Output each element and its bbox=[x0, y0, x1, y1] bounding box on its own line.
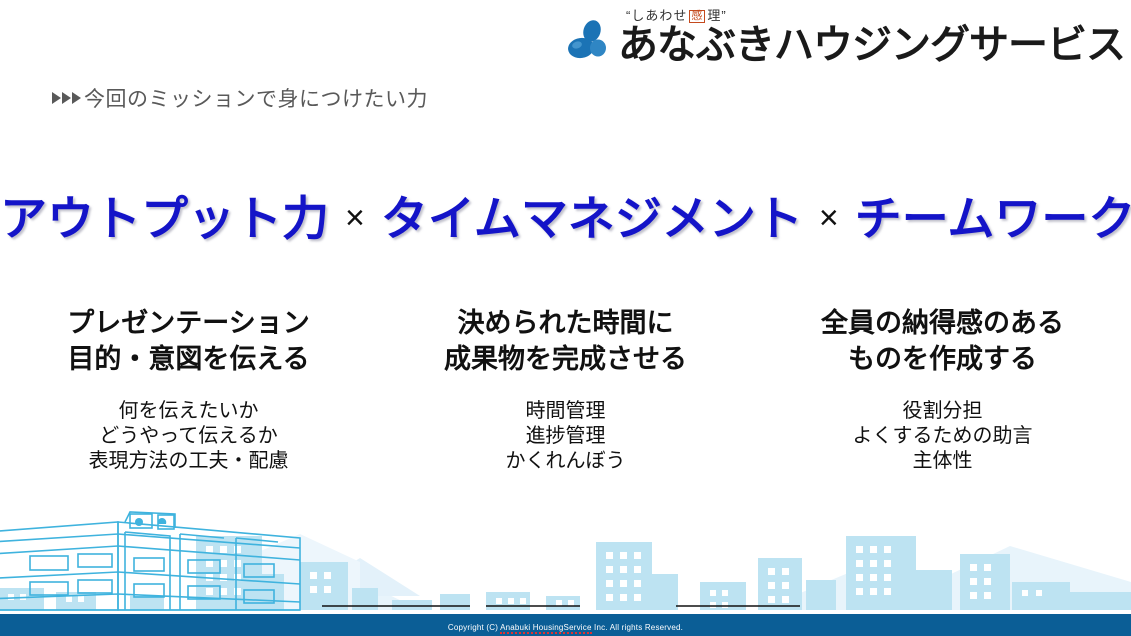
triangle-right-icon bbox=[62, 92, 71, 104]
skills-columns: プレゼンテーション 目的・意図を伝える 何を伝えたいか どうやって伝えるか 表現… bbox=[0, 305, 1131, 474]
triangle-right-icon-group bbox=[52, 92, 82, 104]
logo-tagline-boxed: 感 bbox=[689, 10, 705, 23]
copyright-company: Anabuki HousingService bbox=[500, 623, 592, 634]
skill-body-line: 表現方法の工夫・配慮 bbox=[12, 449, 365, 474]
droplets-icon bbox=[566, 18, 614, 66]
copyright-pre: Copyright (C) bbox=[448, 623, 500, 632]
skill-column-body: 時間管理 進捗管理 かくれんぼう bbox=[389, 399, 742, 474]
section-header: 今回のミッションで身につけたい力 bbox=[52, 83, 428, 113]
skill-column-title: プレゼンテーション 目的・意図を伝える bbox=[12, 305, 365, 377]
skill-column-body: 役割分担 よくするための助言 主体性 bbox=[766, 399, 1119, 474]
skill-column-time-management: 決められた時間に 成果物を完成させる 時間管理 進捗管理 かくれんぼう bbox=[377, 305, 754, 474]
triangle-right-icon bbox=[52, 92, 61, 104]
skill-column-teamwork: 全員の納得感のある ものを作成する 役割分担 よくするための助言 主体性 bbox=[754, 305, 1131, 474]
slide: “しあわせ 感 理” あなぶきハウジングサービス 今回のミッションで身につけたい… bbox=[0, 0, 1131, 636]
logo-text: “しあわせ 感 理” あなぶきハウジングサービス bbox=[618, 8, 1125, 66]
skill-column-presentation: プレゼンテーション 目的・意図を伝える 何を伝えたいか どうやって伝えるか 表現… bbox=[0, 305, 377, 474]
logo-tagline-post: 理” bbox=[707, 8, 726, 24]
headline-keyword-1: アウトプット力 bbox=[0, 192, 329, 245]
headline: アウトプット力×タイムマネジメント×チームワーク bbox=[0, 190, 1131, 247]
skill-title-line: 決められた時間に bbox=[389, 305, 742, 341]
skill-title-line: プレゼンテーション bbox=[12, 305, 365, 341]
skill-body-line: どうやって伝えるか bbox=[12, 424, 365, 449]
skill-body-line: かくれんぼう bbox=[389, 449, 742, 474]
skill-title-line: 目的・意図を伝える bbox=[12, 341, 365, 377]
headline-keyword-2: タイムマネジメント bbox=[381, 192, 803, 245]
skill-column-body: 何を伝えたいか どうやって伝えるか 表現方法の工夫・配慮 bbox=[12, 399, 365, 474]
headline-keyword-3: チームワーク bbox=[855, 192, 1131, 245]
skill-column-title: 決められた時間に 成果物を完成させる bbox=[389, 305, 742, 377]
headline-separator-1: × bbox=[329, 199, 381, 237]
skill-title-line: 成果物を完成させる bbox=[389, 341, 742, 377]
copyright-post: Inc. All rights Reserved. bbox=[592, 623, 683, 632]
headline-separator-2: × bbox=[803, 199, 855, 237]
skill-column-title: 全員の納得感のある ものを作成する bbox=[766, 305, 1119, 377]
skill-body-line: 主体性 bbox=[766, 449, 1119, 474]
logo-tagline: “しあわせ 感 理” bbox=[626, 8, 1125, 24]
skill-body-line: 何を伝えたいか bbox=[12, 399, 365, 424]
section-header-label: 今回のミッションで身につけたい力 bbox=[84, 83, 428, 113]
skill-body-line: 時間管理 bbox=[389, 399, 742, 424]
skill-body-line: 役割分担 bbox=[766, 399, 1119, 424]
logo-company-name: あなぶきハウジングサービス bbox=[618, 24, 1125, 66]
logo-tagline-pre: “しあわせ bbox=[626, 8, 687, 24]
skill-title-line: ものを作成する bbox=[766, 341, 1119, 377]
triangle-right-icon bbox=[72, 92, 81, 104]
skill-title-line: 全員の納得感のある bbox=[766, 305, 1119, 341]
skill-body-line: 進捗管理 bbox=[389, 424, 742, 449]
company-logo: “しあわせ 感 理” あなぶきハウジングサービス bbox=[566, 8, 1125, 68]
skill-body-line: よくするための助言 bbox=[766, 424, 1119, 449]
copyright-text: Copyright (C) Anabuki HousingService Inc… bbox=[0, 623, 1131, 632]
